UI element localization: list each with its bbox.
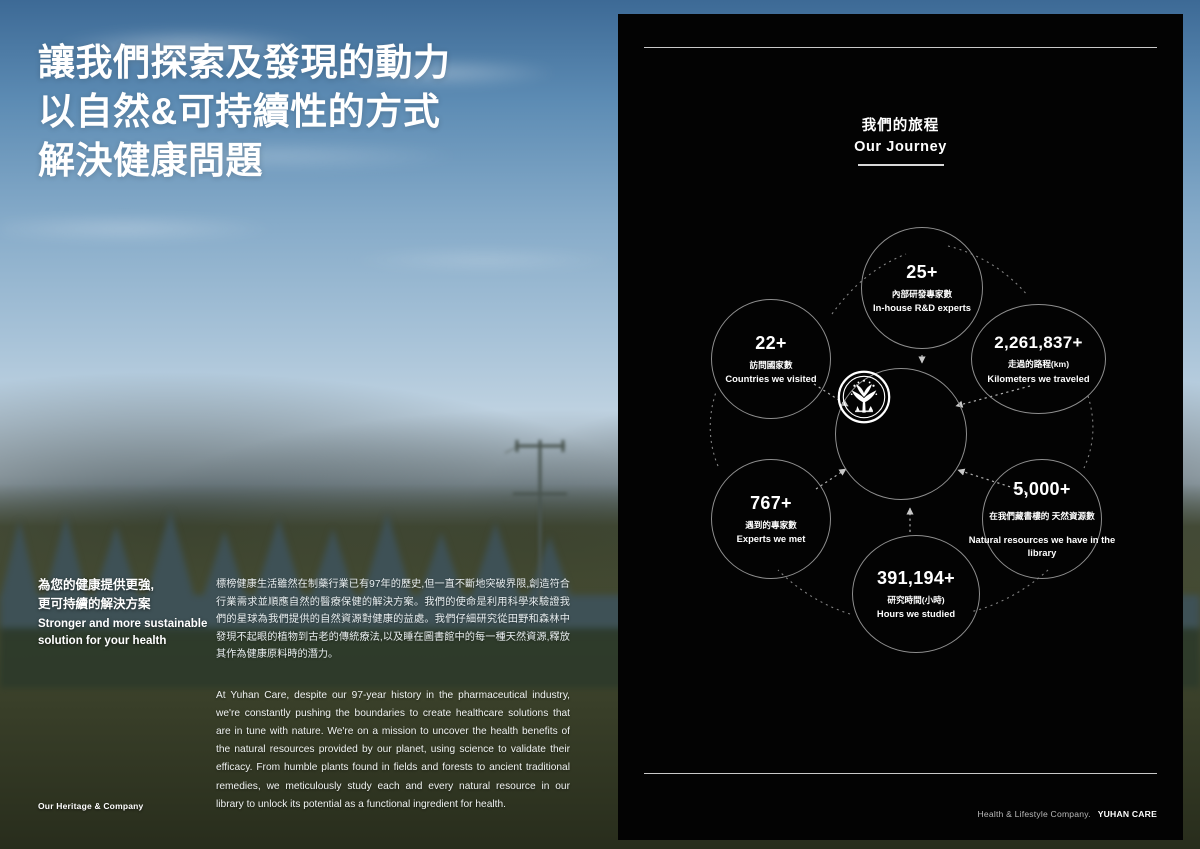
- stat-label-zh-kilometers: 走過的路程(km): [1008, 358, 1069, 370]
- headline-line-1: 讓我們探索及發現的動力: [38, 38, 558, 87]
- stat-value-rd: 25+: [906, 262, 937, 283]
- panel-footer: Health & Lifestyle Company. YUHAN CARE: [978, 809, 1158, 819]
- tree-emblem-icon: [836, 369, 892, 425]
- stat-label-zh-experts: 遇到的專家數: [745, 519, 797, 531]
- stat-label-zh-countries: 訪問國家數: [750, 359, 793, 371]
- stat-label-zh-resources: 在我們藏書樓的 天然資源數: [989, 510, 1095, 522]
- stat-label-en-rd: In-house R&D experts: [873, 302, 971, 314]
- headline-line-3: 解決健康問題: [38, 136, 558, 185]
- body-paragraph-zh: 標榜健康生活雖然在制藥行業已有97年的歷史,但一直不斷地突破界限,創造符合行業需…: [216, 576, 570, 664]
- diagram-center-hub: [835, 368, 967, 500]
- headline-line-2: 以自然&可持續性的方式: [38, 87, 558, 136]
- subheading-en: Stronger and more sustainable solution f…: [38, 616, 213, 651]
- stat-node-kilometers[interactable]: 2,261,837+ 走過的路程(km) Kilometers we trave…: [971, 304, 1106, 414]
- stat-node-hours[interactable]: 391,194+ 研究時間(小時) Hours we studied: [852, 535, 980, 653]
- subheading-block: 為您的健康提供更強, 更可持續的解決方案 Stronger and more s…: [38, 576, 213, 650]
- stat-node-experts[interactable]: 767+ 遇到的專家數 Experts we met: [711, 459, 831, 579]
- panel-footer-tagline: Health & Lifestyle Company.: [978, 809, 1091, 819]
- journey-panel: 我們的旅程 Our Journey: [618, 14, 1183, 840]
- stat-label-en-kilometers: Kilometers we traveled: [987, 373, 1089, 385]
- subheading-zh-line-1: 為您的健康提供更強,: [38, 576, 213, 595]
- stat-value-kilometers: 2,261,837+: [994, 333, 1083, 353]
- subheading-zh-line-2: 更可持續的解決方案: [38, 595, 213, 614]
- stat-value-hours: 391,194+: [877, 568, 955, 589]
- stat-node-countries[interactable]: 22+ 訪問國家數 Countries we visited: [711, 299, 831, 419]
- stat-label-en-hours: Hours we studied: [877, 608, 955, 620]
- stat-node-rd[interactable]: 25+ 內部研發專家數 In-house R&D experts: [861, 227, 983, 349]
- panel-footer-brand: YUHAN CARE: [1098, 809, 1157, 819]
- body-copy-block: 標榜健康生活雖然在制藥行業已有97年的歷史,但一直不斷地突破界限,創造符合行業需…: [216, 576, 570, 814]
- page-headline: 讓我們探索及發現的動力 以自然&可持續性的方式 解決健康問題: [38, 38, 558, 186]
- stat-label-zh-rd: 內部研發專家數: [892, 288, 952, 300]
- stat-value-countries: 22+: [755, 333, 786, 354]
- stat-label-en-experts: Experts we met: [737, 533, 806, 545]
- stat-value-resources: 5,000+: [1013, 479, 1070, 500]
- stat-label-en-countries: Countries we visited: [725, 373, 816, 385]
- stat-value-experts: 767+: [750, 493, 792, 514]
- stat-label-zh-hours: 研究時間(小時): [887, 594, 944, 606]
- journey-diagram: 25+ 內部研發專家數 In-house R&D experts 22+ 訪問國…: [618, 14, 1183, 840]
- left-footer-label: Our Heritage & Company: [38, 801, 143, 811]
- body-paragraph-en: At Yuhan Care, despite our 97-year histo…: [216, 687, 570, 814]
- stat-node-resources[interactable]: 5,000+ 在我們藏書樓的 天然資源數 Natural resources w…: [982, 459, 1102, 579]
- stat-label-en-resources: Natural resources we have in the library: [966, 534, 1118, 559]
